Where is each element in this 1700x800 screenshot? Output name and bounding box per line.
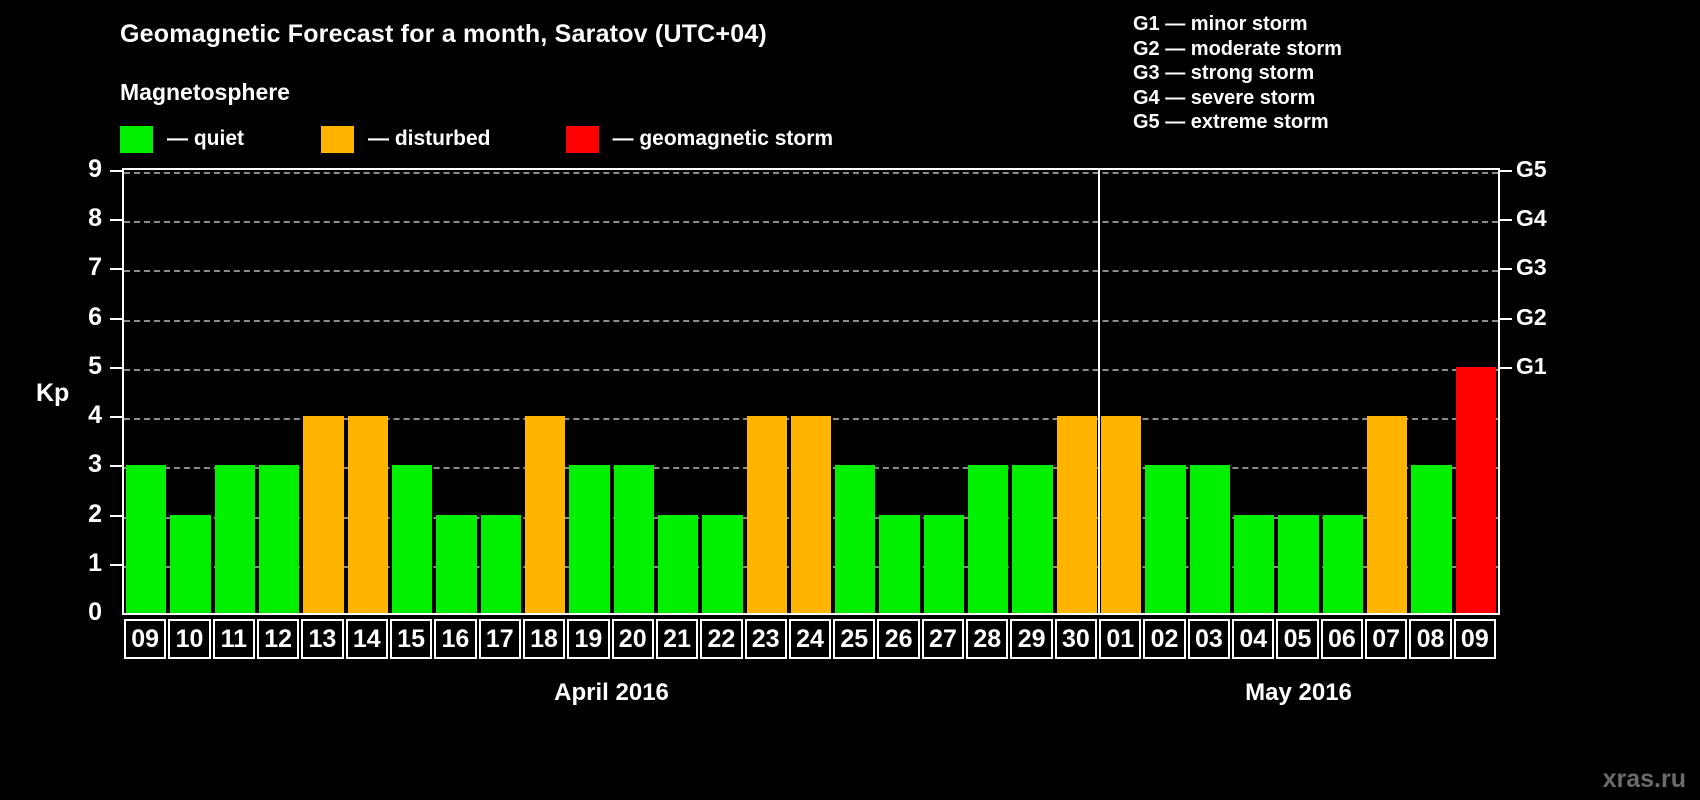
y-tick-label-6: 6 xyxy=(62,305,102,330)
y-tick-mark-2 xyxy=(110,515,122,517)
y-tick-label-2: 2 xyxy=(62,502,102,527)
legend-label-disturbed: — disturbed xyxy=(368,127,491,151)
bar-day-11[interactable] xyxy=(215,465,255,613)
day-label-24[interactable]: 03 xyxy=(1188,619,1230,659)
bar-day-04[interactable] xyxy=(1234,515,1274,613)
day-label-1[interactable]: 10 xyxy=(168,619,210,659)
g-tick-mark-g2 xyxy=(1500,318,1512,320)
storm-scale-legend: G1 — minor storm G2 — moderate storm G3 … xyxy=(1133,12,1342,135)
storm-scale-line-g3: G3 — strong storm xyxy=(1133,61,1342,86)
bar-day-17[interactable] xyxy=(481,515,521,613)
bar-day-19[interactable] xyxy=(569,465,609,613)
y-tick-label-7: 7 xyxy=(62,255,102,280)
day-label-16[interactable]: 25 xyxy=(833,619,875,659)
g-tick-label-g4: G4 xyxy=(1516,207,1547,230)
day-label-11[interactable]: 20 xyxy=(612,619,654,659)
y-tick-mark-6 xyxy=(110,318,122,320)
day-label-21[interactable]: 30 xyxy=(1055,619,1097,659)
g-tick-mark-g5 xyxy=(1500,170,1512,172)
bar-day-15[interactable] xyxy=(392,465,432,613)
storm-scale-line-g5: G5 — extreme storm xyxy=(1133,110,1342,135)
bar-day-29[interactable] xyxy=(1012,465,1052,613)
watermark: xras.ru xyxy=(1603,765,1686,794)
y-tick-mark-9 xyxy=(110,170,122,172)
bar-day-25[interactable] xyxy=(835,465,875,613)
bar-day-16[interactable] xyxy=(436,515,476,613)
bar-day-30[interactable] xyxy=(1057,416,1097,613)
y-tick-label-5: 5 xyxy=(62,354,102,379)
day-label-4[interactable]: 13 xyxy=(301,619,343,659)
g-tick-label-g5: G5 xyxy=(1516,158,1547,181)
day-label-14[interactable]: 23 xyxy=(745,619,787,659)
legend-entry-storm: — geomagnetic storm xyxy=(566,126,834,153)
day-label-7[interactable]: 16 xyxy=(434,619,476,659)
day-label-3[interactable]: 12 xyxy=(257,619,299,659)
day-label-23[interactable]: 02 xyxy=(1143,619,1185,659)
magnetosphere-legend: — quiet — disturbed — geomagnetic storm xyxy=(120,124,833,154)
day-label-9[interactable]: 18 xyxy=(523,619,565,659)
bar-day-28[interactable] xyxy=(968,465,1008,613)
bar-day-18[interactable] xyxy=(525,416,565,613)
storm-scale-line-g2: G2 — moderate storm xyxy=(1133,37,1342,62)
bar-day-26[interactable] xyxy=(879,515,919,613)
y-tick-mark-1 xyxy=(110,564,122,566)
bar-day-03[interactable] xyxy=(1190,465,1230,613)
y-tick-label-8: 8 xyxy=(62,206,102,231)
day-label-26[interactable]: 05 xyxy=(1276,619,1318,659)
legend-swatch-disturbed-icon xyxy=(321,126,354,153)
month-label-0: April 2016 xyxy=(124,679,1099,707)
legend-entry-quiet: — quiet xyxy=(120,126,244,153)
bar-day-06[interactable] xyxy=(1323,515,1363,613)
legend-entry-disturbed: — disturbed xyxy=(321,126,491,153)
legend-label-storm: — geomagnetic storm xyxy=(613,127,834,151)
legend-swatch-storm-icon xyxy=(566,126,599,153)
storm-scale-line-g1: G1 — minor storm xyxy=(1133,12,1342,37)
bar-day-27[interactable] xyxy=(924,515,964,613)
day-label-8[interactable]: 17 xyxy=(479,619,521,659)
y-tick-mark-3 xyxy=(110,465,122,467)
magnetosphere-heading: Magnetosphere xyxy=(120,79,290,106)
bar-day-13[interactable] xyxy=(303,416,343,613)
bar-day-20[interactable] xyxy=(614,465,654,613)
g-tick-label-g2: G2 xyxy=(1516,306,1547,329)
day-label-15[interactable]: 24 xyxy=(789,619,831,659)
day-label-2[interactable]: 11 xyxy=(213,619,255,659)
bar-day-08[interactable] xyxy=(1411,465,1451,613)
bar-day-23[interactable] xyxy=(747,416,787,613)
day-label-22[interactable]: 01 xyxy=(1099,619,1141,659)
g-tick-label-g3: G3 xyxy=(1516,256,1547,279)
day-label-12[interactable]: 21 xyxy=(656,619,698,659)
day-label-19[interactable]: 28 xyxy=(966,619,1008,659)
g-tick-mark-g4 xyxy=(1500,219,1512,221)
day-label-29[interactable]: 08 xyxy=(1409,619,1451,659)
bar-day-14[interactable] xyxy=(348,416,388,613)
bar-day-12[interactable] xyxy=(259,465,299,613)
day-label-27[interactable]: 06 xyxy=(1321,619,1363,659)
y-tick-label-0: 0 xyxy=(62,600,102,625)
y-tick-label-1: 1 xyxy=(62,551,102,576)
bar-day-01[interactable] xyxy=(1101,416,1141,613)
day-label-5[interactable]: 14 xyxy=(346,619,388,659)
day-label-28[interactable]: 07 xyxy=(1365,619,1407,659)
bar-day-22[interactable] xyxy=(702,515,742,613)
storm-scale-line-g4: G4 — severe storm xyxy=(1133,86,1342,111)
bar-day-09[interactable] xyxy=(1456,367,1496,613)
bar-day-21[interactable] xyxy=(658,515,698,613)
day-label-6[interactable]: 15 xyxy=(390,619,432,659)
page-title: Geomagnetic Forecast for a month, Sarato… xyxy=(120,20,767,49)
day-label-25[interactable]: 04 xyxy=(1232,619,1274,659)
y-tick-mark-7 xyxy=(110,268,122,270)
g-tick-mark-g3 xyxy=(1500,268,1512,270)
bar-day-05[interactable] xyxy=(1278,515,1318,613)
bar-day-02[interactable] xyxy=(1145,465,1185,613)
day-label-13[interactable]: 22 xyxy=(700,619,742,659)
bar-day-07[interactable] xyxy=(1367,416,1407,613)
g-tick-label-g1: G1 xyxy=(1516,355,1547,378)
g-tick-mark-g1 xyxy=(1500,367,1512,369)
y-tick-label-4: 4 xyxy=(62,403,102,428)
bar-day-10[interactable] xyxy=(170,515,210,613)
bar-day-09[interactable] xyxy=(126,465,166,613)
bars-layer xyxy=(124,170,1498,613)
y-tick-mark-4 xyxy=(110,416,122,418)
legend-swatch-quiet-icon xyxy=(120,126,153,153)
plot-area xyxy=(122,168,1500,615)
legend-label-quiet: — quiet xyxy=(167,127,244,151)
month-divider xyxy=(1098,170,1100,613)
y-tick-mark-8 xyxy=(110,219,122,221)
y-tick-label-3: 3 xyxy=(62,452,102,477)
bar-day-24[interactable] xyxy=(791,416,831,613)
month-label-1: May 2016 xyxy=(1099,679,1498,707)
day-label-17[interactable]: 26 xyxy=(877,619,919,659)
day-label-10[interactable]: 19 xyxy=(567,619,609,659)
day-labels-axis: 0910111213141516171819202122232425262728… xyxy=(122,619,1500,659)
day-label-0[interactable]: 09 xyxy=(124,619,166,659)
y-tick-mark-5 xyxy=(110,367,122,369)
y-tick-label-9: 9 xyxy=(62,157,102,182)
day-label-18[interactable]: 27 xyxy=(922,619,964,659)
day-label-20[interactable]: 29 xyxy=(1010,619,1052,659)
day-label-30[interactable]: 09 xyxy=(1454,619,1496,659)
